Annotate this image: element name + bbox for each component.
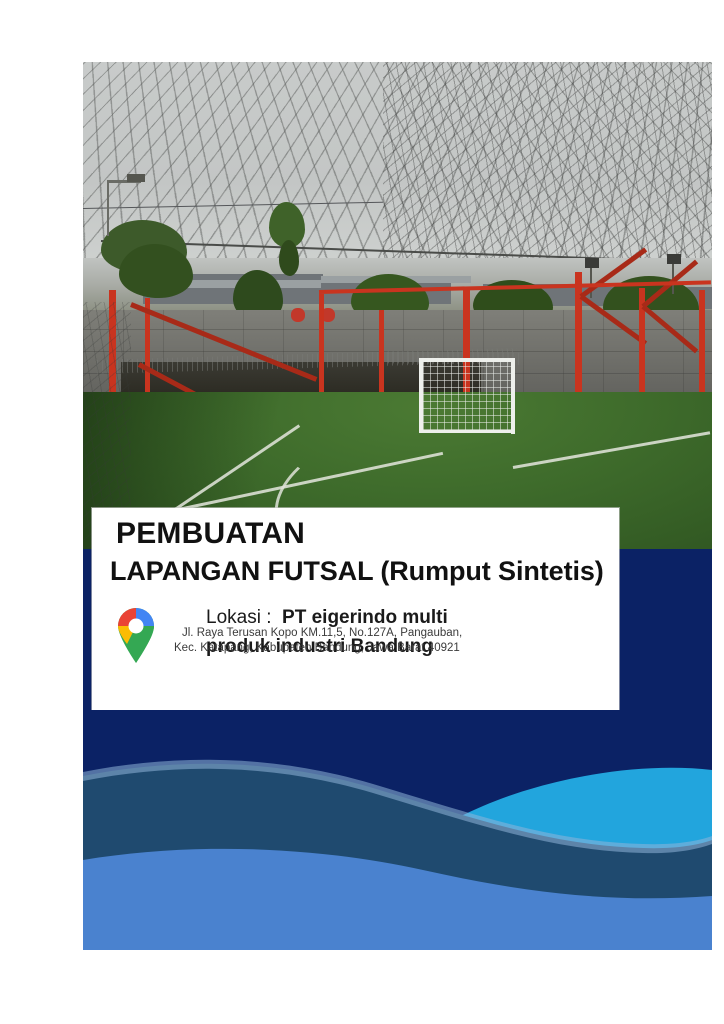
google-maps-pin-icon — [114, 606, 158, 664]
light-head-left — [127, 174, 145, 182]
bucket — [291, 308, 305, 322]
page-title-line1: PEMBUATAN — [116, 517, 305, 551]
floodlight — [585, 258, 599, 268]
location-label: Lokasi : — [206, 607, 271, 628]
address-line-1: Jl. Raya Terusan Kopo KM.11,5, No.127A, … — [174, 626, 604, 641]
caption-card: PEMBUATAN LAPANGAN FUTSAL (Rumput Sintet… — [92, 508, 619, 721]
address-block: Jl. Raya Terusan Kopo KM.11,5, No.127A, … — [174, 626, 604, 656]
goal-post — [511, 358, 515, 434]
futsal-field-photo — [83, 62, 712, 549]
goal-base — [419, 430, 515, 433]
location-name-part1: PT eigerindo multi — [282, 607, 448, 628]
light-pole-left — [107, 180, 109, 236]
floodlight — [667, 254, 681, 264]
goal-post — [419, 358, 423, 432]
goal-net — [423, 362, 511, 430]
address-line-2: Kec. Katapang, Kabupaten Bandung, Jawa B… — [174, 641, 604, 656]
goal-crossbar — [419, 358, 515, 362]
wave-footer-graphic — [83, 710, 712, 950]
page-canvas: PEMBUATAN LAPANGAN FUTSAL (Rumput Sintet… — [0, 0, 724, 1024]
poster-panel: PEMBUATAN LAPANGAN FUTSAL (Rumput Sintet… — [83, 62, 712, 950]
page-title-line2: LAPANGAN FUTSAL (Rumput Sintetis) — [110, 556, 604, 587]
